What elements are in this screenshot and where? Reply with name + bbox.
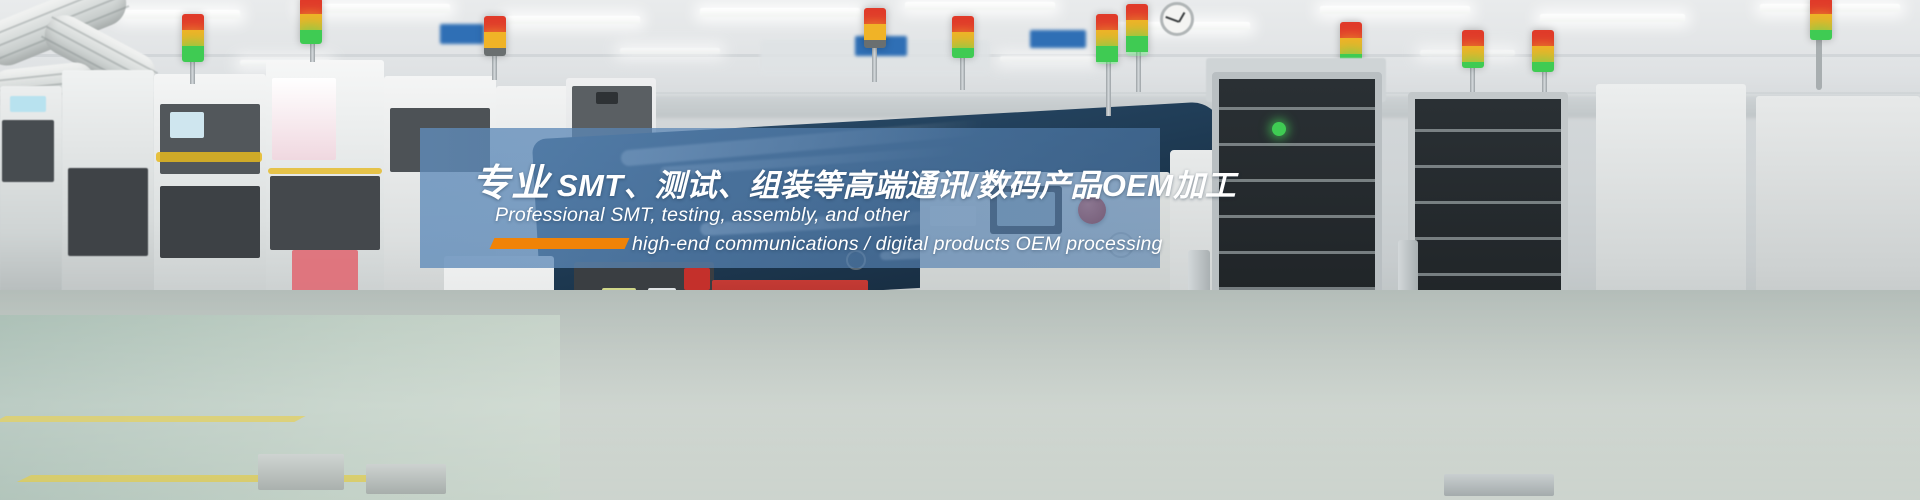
ceiling-light [620,48,720,54]
machine-screen [272,78,336,160]
ceiling-light [300,4,450,13]
machine-screen [10,96,46,112]
banner-subtitle-line2: high-end communications / digital produc… [632,233,1163,256]
andon-stack-light [484,16,506,56]
stack-light-pole [190,62,195,84]
banner-text-block: 专业SMT、测试、组装等高端通讯/数码产品OEM加工 Professional … [420,128,1180,278]
banner-headline: 专业SMT、测试、组装等高端通讯/数码产品OEM加工 [472,152,1236,207]
ceiling-light [1000,56,1095,62]
wall-clock [1160,2,1194,36]
banner-subtitle-line1: Professional SMT, testing, assembly, and… [495,204,910,227]
ceiling-light [120,10,240,19]
machine-panel [2,120,54,182]
andon-stack-light [1126,4,1148,56]
hero-banner: 专业SMT、测试、组装等高端通讯/数码产品OEM加工 Professional … [0,0,1920,500]
andon-stack-light [1810,0,1832,40]
rack-foot [1444,474,1554,496]
andon-stack-light [1096,14,1118,64]
orange-accent-bar [490,238,630,249]
andon-stack-light [864,8,886,48]
andon-stack-light [300,0,322,44]
banner-headline-rest: SMT、测试、组装等高端通讯/数码产品OEM加工 [557,168,1236,203]
ceiling-light [905,2,1055,10]
machine-panel [68,168,148,256]
stack-light-pole [1816,36,1822,90]
ceiling-light [1540,14,1685,22]
andon-stack-light [952,16,974,58]
warning-stripe [156,152,262,162]
ceiling-light [1320,6,1470,14]
stack-light-pole [1136,52,1141,92]
overhead-signage [1030,30,1086,48]
banner-headline-lead: 专业 [472,163,550,205]
andon-stack-light [182,14,204,62]
stack-light-pole [1106,60,1111,116]
stack-light-pole [492,54,497,80]
ceiling-light [700,8,860,17]
machine-panel [160,186,260,258]
machine-vent [596,92,618,104]
andon-stack-light [1462,30,1484,68]
machine-panel [270,176,380,250]
stack-light-pole [872,46,877,82]
pick-and-place-machine [0,86,62,296]
warning-stripe [268,168,382,174]
stack-light-pole [960,56,965,90]
machine-base-foot [258,454,344,490]
ceiling-light [505,16,640,24]
machine-base-foot [366,464,446,494]
rack-status-light [1272,122,1286,136]
andon-stack-light [1532,30,1554,72]
machine-screen [170,112,204,138]
stack-light-pole [1470,66,1475,94]
overhead-signage [440,24,484,44]
